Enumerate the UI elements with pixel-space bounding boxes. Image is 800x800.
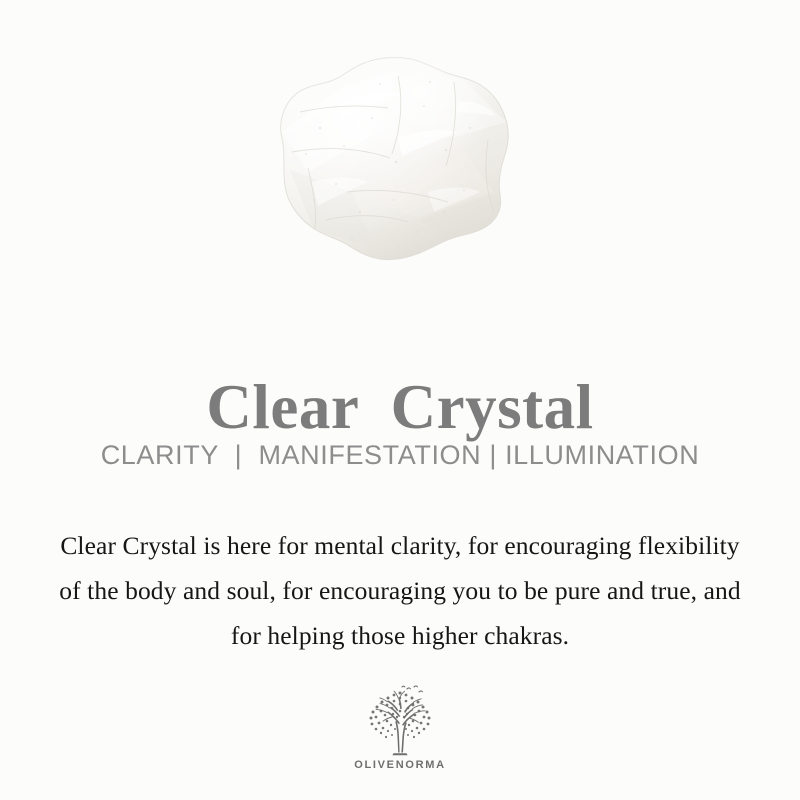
- brand-name: OLIVENORMA: [354, 759, 446, 771]
- product-keywords: CLARITY | MANIFESTATION | ILLUMINATION: [0, 440, 800, 471]
- crystal-image: [248, 42, 520, 282]
- brand-logo: OLIVENORMA: [0, 684, 800, 771]
- page-title: Clear Crystal: [0, 374, 800, 440]
- tree-icon: [357, 684, 443, 756]
- raw-clear-quartz-crystal-icon: [248, 42, 520, 282]
- product-description: Clear Crystal is here for mental clarity…: [50, 523, 750, 658]
- product-image-stage: [0, 0, 800, 320]
- product-card: Clear Crystal CLARITY | MANIFESTATION | …: [0, 0, 800, 800]
